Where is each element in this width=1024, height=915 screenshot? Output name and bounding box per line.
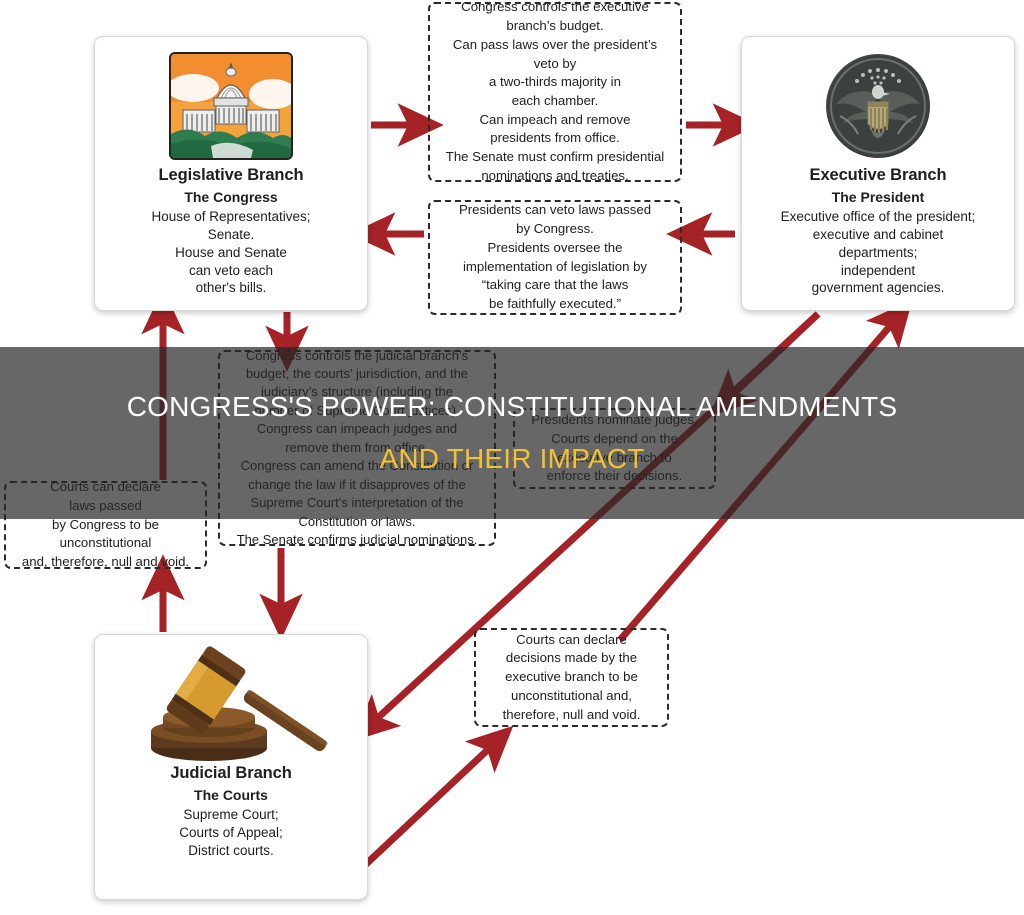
note-leg-exe-line-7: presidents from office. — [446, 129, 664, 148]
note-jud-exe-line-1: decisions made by the — [503, 649, 641, 668]
legislative-branch-text: Legislative Branch The Congress House of… — [143, 165, 318, 297]
note-leg-exe-line-2: Can pass laws over the president’s — [446, 36, 664, 55]
note-jud-leg-line-4: and, therefore, null and void. — [22, 553, 189, 572]
judicial-line-0: Supreme Court; — [170, 806, 291, 824]
judicial-branch-text: Judicial Branch The Courts Supreme Court… — [162, 763, 299, 860]
note-leg-jud-line-10: The Senate confirms judicial nominations… — [237, 531, 478, 549]
note-jud-exe-line-3: unconstitutional and, — [503, 687, 641, 706]
note-leg-exe-line-5: each chamber. — [446, 92, 664, 111]
executive-branch-card: Executive Branch The President Executive… — [741, 36, 1015, 311]
note-leg-exe-line-8: The Senate must confirm presidential — [446, 148, 664, 167]
legislative-subtitle: The Congress — [151, 188, 310, 206]
judicial-subtitle: The Courts — [170, 786, 291, 804]
note-leg-exe-line-6: Can impeach and remove — [446, 111, 664, 130]
legislative-line-4: other's bills. — [151, 279, 310, 297]
note-exe-leg-line-2: Presidents oversee the — [459, 239, 651, 258]
legislative-line-1: Senate. — [151, 226, 310, 244]
title-overlay-banner: CONGRESS'S POWER: CONSTITUTIONAL AMENDME… — [0, 347, 1024, 519]
legislative-branch-card: Legislative Branch The Congress House of… — [94, 36, 368, 311]
note-legislative-checks-executive: Congress controls the executive branch’s… — [428, 2, 682, 182]
note-exe-leg-line-4: “taking care that the laws — [459, 276, 651, 295]
executive-branch-text: Executive Branch The President Executive… — [773, 165, 984, 297]
note-jud-exe-line-0: Courts can declare — [503, 631, 641, 650]
legislative-title: Legislative Branch — [151, 165, 310, 187]
judicial-branch-card: Judicial Branch The Courts Supreme Court… — [94, 634, 368, 900]
note-leg-exe-line-1: branch’s budget. — [446, 17, 664, 36]
executive-line-2: departments; — [781, 244, 976, 262]
judicial-line-2: District courts. — [170, 842, 291, 860]
legislative-line-0: House of Representatives; — [151, 208, 310, 226]
executive-title: Executive Branch — [781, 165, 976, 187]
note-judicial-checks-executive: Courts can declare decisions made by the… — [474, 628, 669, 727]
note-leg-exe-line-9: nominations and treaties. — [446, 167, 664, 186]
note-exe-leg-line-5: be faithfully executed.” — [459, 295, 651, 314]
judicial-title: Judicial Branch — [170, 763, 291, 785]
judicial-line-1: Courts of Appeal; — [170, 824, 291, 842]
overlay-headline-primary: CONGRESS'S POWER: CONSTITUTIONAL AMENDME… — [127, 391, 898, 423]
note-leg-exe-line-3: veto by — [446, 55, 664, 74]
legislative-line-2: House and Senate — [151, 244, 310, 262]
note-exe-leg-line-0: Presidents can veto laws passed — [459, 201, 651, 220]
legislative-line-3: can veto each — [151, 262, 310, 280]
note-leg-exe-line-4: a two-thirds majority in — [446, 73, 664, 92]
note-jud-leg-line-3: unconstitutional — [22, 534, 189, 553]
note-exe-leg-line-3: implementation of legislation by — [459, 258, 651, 277]
overlay-headline-secondary: AND THEIR IMPACT — [379, 443, 644, 475]
executive-line-0: Executive office of the president; — [781, 208, 976, 226]
checks-and-balances-diagram: Legislative Branch The Congress House of… — [0, 0, 1024, 915]
gavel-icon — [95, 645, 367, 763]
arrow-judicial-to-exec-note — [364, 742, 496, 866]
note-exe-leg-line-1: by Congress. — [459, 220, 651, 239]
note-jud-exe-line-2: executive branch to be — [503, 668, 641, 687]
executive-line-1: executive and cabinet — [781, 226, 976, 244]
note-leg-exe-line-0: Congress controls the executive — [446, 0, 664, 17]
executive-line-3: independent — [781, 262, 976, 280]
capitol-icon — [95, 47, 367, 165]
note-jud-exe-line-4: therefore, null and void. — [503, 706, 641, 725]
executive-line-4: government agencies. — [781, 279, 976, 297]
executive-subtitle: The President — [781, 188, 976, 206]
great-seal-icon — [742, 47, 1014, 165]
note-executive-checks-legislative: Presidents can veto laws passed by Congr… — [428, 200, 682, 315]
